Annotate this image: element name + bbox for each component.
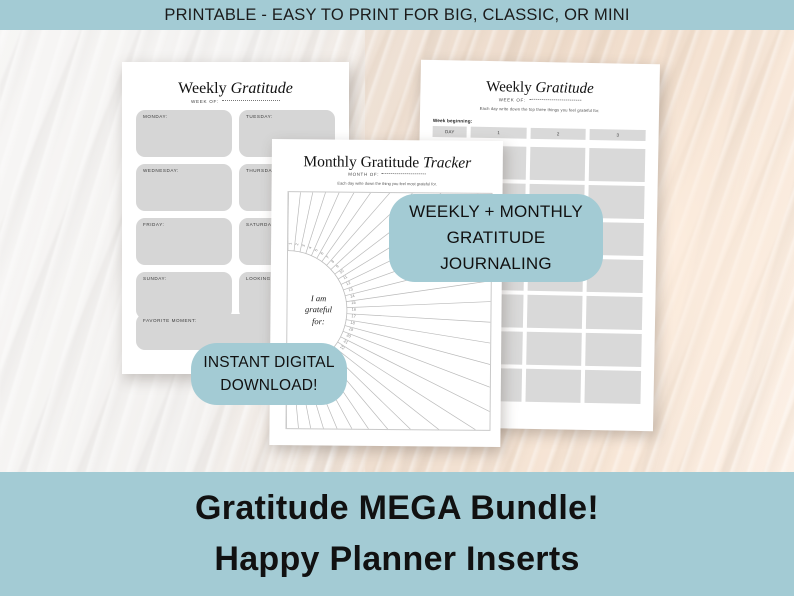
- bottom-banner: Gratitude MEGA Bundle! Happy Planner Ins…: [0, 472, 794, 596]
- sunburst-center-label: I am grateful for:: [287, 293, 349, 328]
- table-cell: [526, 332, 582, 366]
- monthly-tracker-title: Monthly Gratitude Tracker: [272, 153, 503, 173]
- svg-text:20: 20: [346, 332, 353, 339]
- svg-text:14: 14: [350, 293, 356, 299]
- svg-text:12: 12: [345, 280, 351, 286]
- svg-text:6: 6: [319, 250, 325, 255]
- svg-text:13: 13: [348, 286, 354, 292]
- write-in-line: [222, 100, 280, 101]
- weekly-boxes-week-of: WEEK OF:: [122, 99, 349, 104]
- svg-text:5: 5: [313, 247, 319, 252]
- svg-text:7: 7: [325, 255, 330, 260]
- weekly-table-description: Each day write down the top three things…: [420, 105, 659, 115]
- monthly-tracker-description: Each day write down the thing you feel m…: [272, 180, 503, 187]
- badge-weekly-monthly-journaling: WEEKLY + MONTHLY GRATITUDE JOURNALING: [389, 194, 603, 282]
- week-beginning-label: Week beginning:: [433, 118, 473, 124]
- table-cell: [530, 147, 586, 181]
- svg-text:4: 4: [307, 245, 313, 250]
- svg-text:2: 2: [294, 243, 299, 246]
- table-cell: [589, 148, 645, 182]
- svg-text:8: 8: [330, 258, 336, 264]
- monthly-tracker-month-of: MONTH OF:: [272, 171, 503, 178]
- weekly-boxes-title: Weekly Gratitude: [122, 80, 349, 98]
- svg-text:9: 9: [335, 263, 341, 269]
- svg-text:18: 18: [350, 320, 356, 326]
- day-box: SUNDAY:: [136, 272, 232, 319]
- product-title-line2: Happy Planner Inserts: [214, 540, 579, 579]
- write-in-line: [529, 99, 581, 101]
- table-cell: [585, 370, 641, 404]
- day-box: WEDNESDAY:: [136, 164, 232, 211]
- column-header: 2: [530, 128, 586, 140]
- column-header: DAY: [433, 126, 468, 138]
- column-header: 1: [471, 127, 527, 139]
- top-banner-text: PRINTABLE - EASY TO PRINT FOR BIG, CLASS…: [164, 6, 629, 25]
- table-cell: [527, 295, 583, 329]
- day-box: FRIDAY:: [136, 218, 232, 265]
- column-header: 3: [590, 129, 646, 141]
- svg-text:1: 1: [287, 242, 292, 244]
- table-header-row: DAY 1 2 3: [433, 126, 646, 141]
- svg-text:21: 21: [343, 338, 349, 345]
- write-in-line: [382, 173, 426, 174]
- svg-text:11: 11: [342, 274, 348, 280]
- svg-text:17: 17: [351, 313, 356, 318]
- product-listing-image: Weekly Gratitude WEEK OF: MONDAY: TUESDA…: [0, 0, 794, 596]
- badge-instant-digital-download: INSTANT DIGITAL DOWNLOAD!: [191, 343, 347, 405]
- table-cell: [525, 369, 581, 403]
- day-box: MONDAY:: [136, 110, 232, 157]
- table-cell: [586, 333, 642, 367]
- table-cell: [586, 296, 642, 330]
- top-banner: PRINTABLE - EASY TO PRINT FOR BIG, CLASS…: [0, 0, 794, 30]
- product-title-line1: Gratitude MEGA Bundle!: [195, 489, 599, 528]
